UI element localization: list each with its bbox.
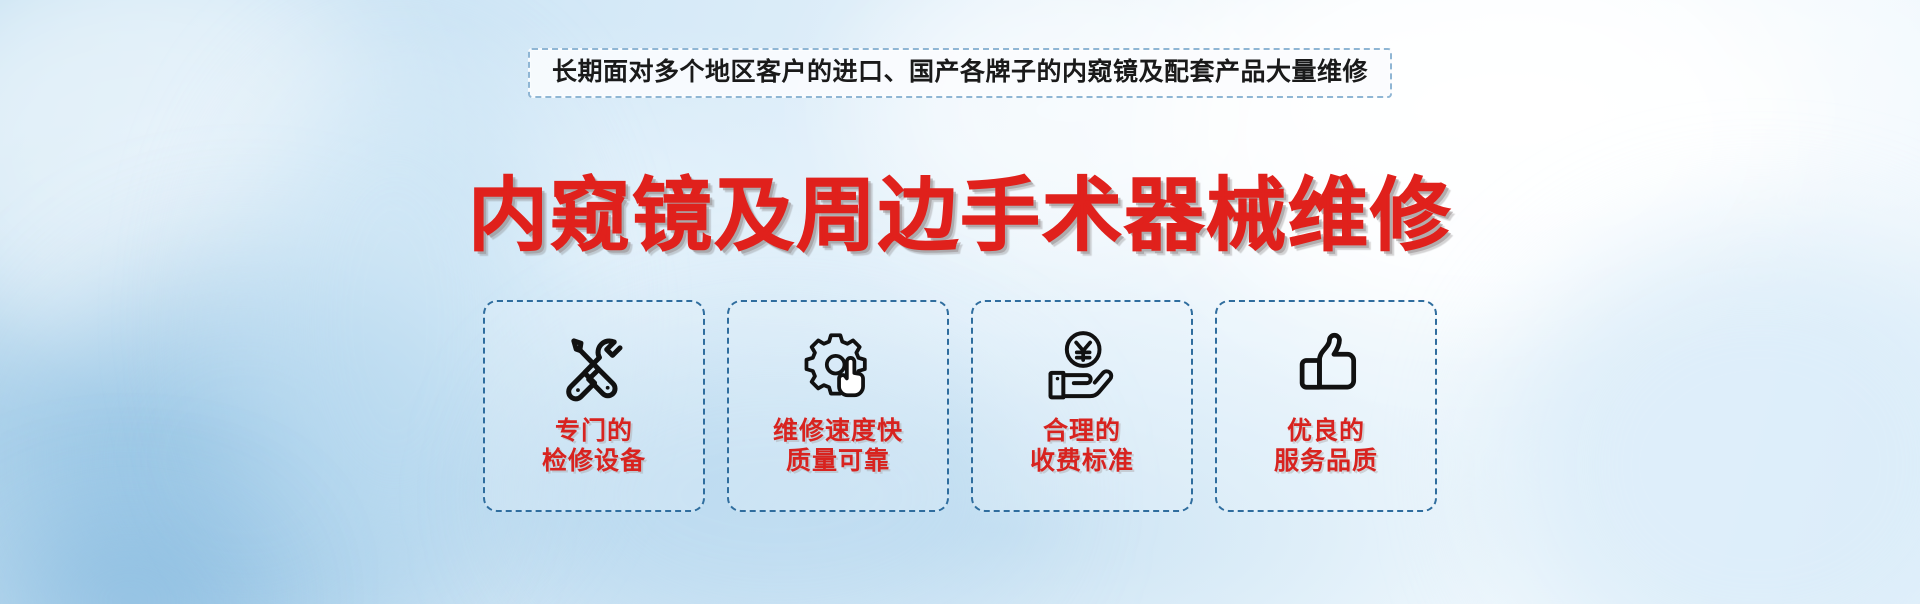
feature-card-caption: 维修速度快 质量可靠 [773,416,903,476]
feature-card-list: 专门的 检修设备 维修速度快 质量可靠 [0,300,1920,512]
screwdriver-wrench-icon [485,324,703,410]
feature-card-line2: 服务品质 [1274,446,1378,476]
feature-card-line2: 质量可靠 [773,446,903,476]
feature-card-line1: 优良的 [1274,416,1378,446]
feature-card-repair-equipment[interactable]: 专门的 检修设备 [483,300,705,512]
feature-card-line1: 合理的 [1030,416,1134,446]
thumbs-up-icon [1217,324,1435,410]
page-title: 内窥镜及周边手术器械维修 [468,172,1452,260]
feature-card-fair-pricing[interactable]: 合理的 收费标准 [971,300,1193,512]
feature-card-fast-reliable[interactable]: 维修速度快 质量可靠 [727,300,949,512]
feature-card-service-quality[interactable]: 优良的 服务品质 [1215,300,1437,512]
tagline-text: 长期面对多个地区客户的进口、国产各牌子的内窥镜及配套产品大量维修 [552,57,1368,87]
feature-card-line1: 维修速度快 [773,416,903,446]
banner-content: 长期面对多个地区客户的进口、国产各牌子的内窥镜及配套产品大量维修 内窥镜及周边手… [0,0,1920,604]
tagline-container: 长期面对多个地区客户的进口、国产各牌子的内窥镜及配套产品大量维修 [0,48,1920,98]
feature-card-line1: 专门的 [542,416,646,446]
page-title-container: 内窥镜及周边手术器械维修 [0,118,1920,313]
feature-card-caption: 合理的 收费标准 [1030,416,1134,476]
gear-click-icon [729,324,947,410]
hand-yen-coin-icon [973,324,1191,410]
tagline-box: 长期面对多个地区客户的进口、国产各牌子的内窥镜及配套产品大量维修 [528,48,1392,98]
feature-card-caption: 专门的 检修设备 [542,416,646,476]
feature-card-caption: 优良的 服务品质 [1274,416,1378,476]
feature-card-line2: 检修设备 [542,446,646,476]
feature-card-line2: 收费标准 [1030,446,1134,476]
banner-stage: 长期面对多个地区客户的进口、国产各牌子的内窥镜及配套产品大量维修 内窥镜及周边手… [0,0,1920,604]
